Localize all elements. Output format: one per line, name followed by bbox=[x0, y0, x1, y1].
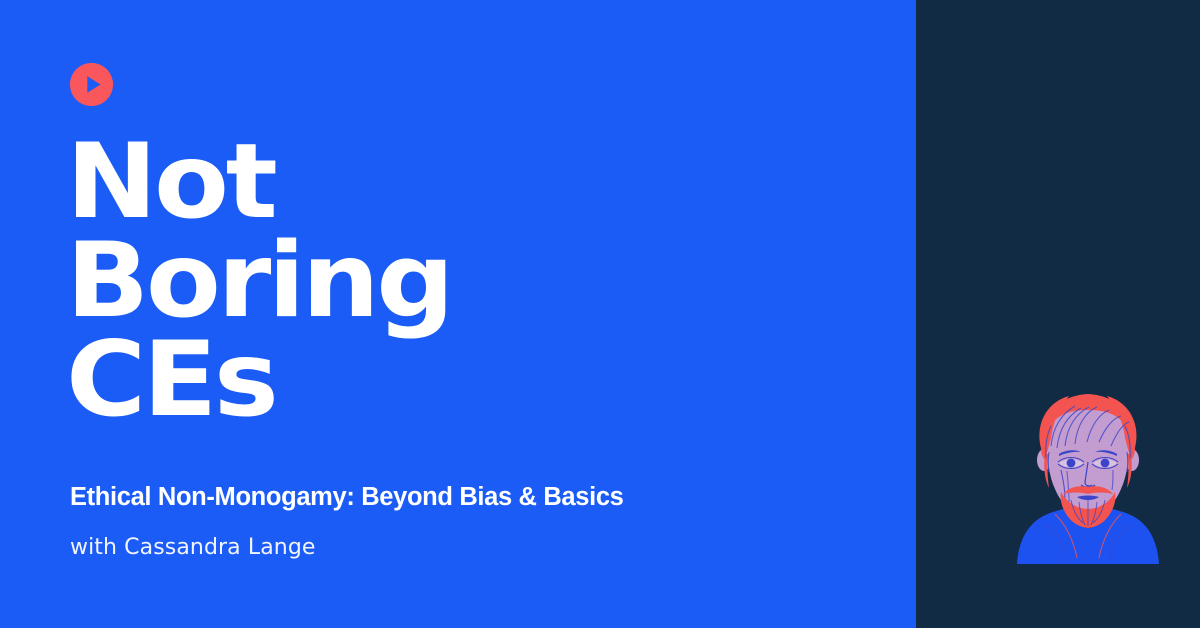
session-title: Ethical Non-Monogamy: Beyond Bias & Basi… bbox=[70, 483, 624, 512]
play-circle-icon[interactable] bbox=[70, 63, 113, 106]
presenter-name: with Cassandra Lange bbox=[70, 535, 316, 560]
promo-card: Not Boring CEs Ethical Non-Monogamy: Bey… bbox=[0, 0, 1200, 628]
page-title: Not Boring CEs bbox=[66, 133, 872, 430]
speaker-portrait bbox=[1003, 388, 1173, 564]
